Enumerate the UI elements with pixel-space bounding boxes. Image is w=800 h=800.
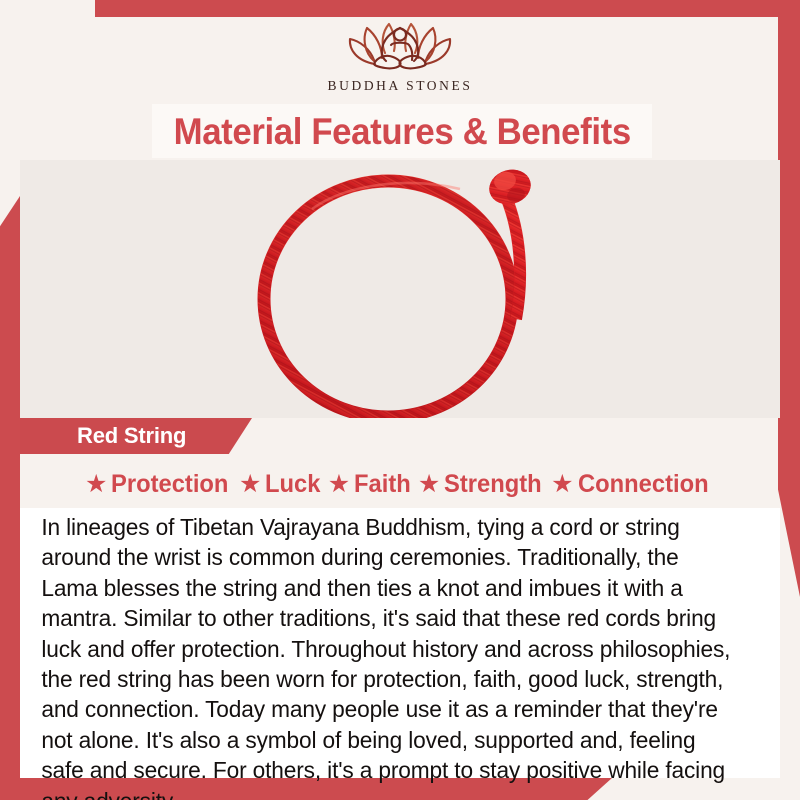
benefits-row: ★ Protection ★ Luck ★ Faith ★ Strength ★…: [20, 462, 780, 506]
description-panel: In lineages of Tibetan Vajrayana Buddhis…: [20, 508, 780, 778]
frame-band-top: [95, 0, 800, 17]
brand-name: BUDDHA STONES: [328, 78, 473, 94]
benefit-label: Strength: [444, 470, 542, 499]
star-icon: ★: [239, 472, 261, 497]
frame-band-left: [0, 196, 20, 800]
brand-header: BUDDHA STONES: [0, 17, 800, 102]
benefit-connection: ★ Connection: [551, 470, 715, 499]
star-icon: ★: [418, 472, 440, 497]
lotus-meditation-figure-icon: [341, 17, 459, 77]
benefit-strength: ★ Strength: [418, 470, 547, 499]
title-banner: Material Features & Benefits: [152, 104, 652, 158]
page-title: Material Features & Benefits: [173, 113, 630, 150]
red-cord-bracelet-illustration: [220, 160, 580, 418]
star-icon: ★: [328, 472, 350, 497]
benefit-label: Connection: [578, 470, 709, 499]
description-text: In lineages of Tibetan Vajrayana Buddhis…: [20, 512, 757, 800]
benefit-label: Luck: [265, 470, 320, 499]
star-icon: ★: [551, 472, 573, 497]
material-label: Red String: [77, 423, 186, 449]
infographic-page: BUDDHA STONES Material Features & Benefi…: [0, 0, 800, 800]
benefit-faith: ★ Faith: [328, 470, 414, 499]
benefit-protection: ★ Protection: [85, 470, 235, 499]
benefit-luck: ★ Luck: [239, 470, 324, 499]
product-image-panel: [20, 160, 780, 418]
material-banner: Red String: [20, 418, 252, 454]
star-icon: ★: [85, 472, 107, 497]
benefit-label: Faith: [354, 470, 411, 499]
benefit-label: Protection: [111, 470, 228, 499]
